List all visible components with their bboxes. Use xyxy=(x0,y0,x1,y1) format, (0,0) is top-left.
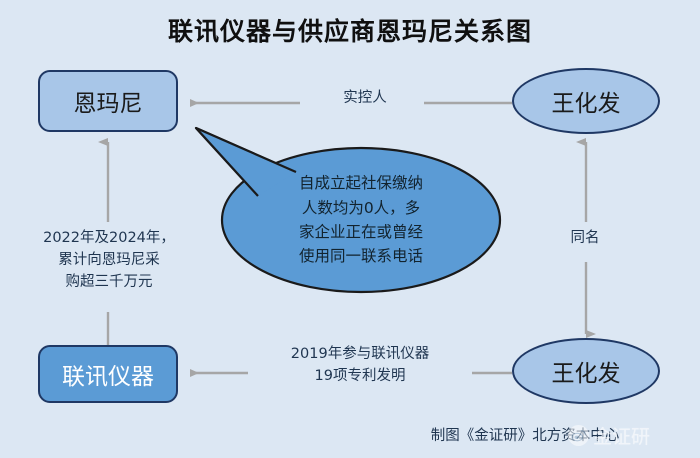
edge-label-shi-kong-ren: 实控人 xyxy=(310,88,420,110)
node-lianxun[interactable]: 联讯仪器 xyxy=(38,345,178,403)
edge-label-procurement: 2022年及2024年， 累计向恩玛尼采 购超三千万元 xyxy=(26,228,192,293)
edge-label-tong-ming: 同名 xyxy=(540,228,630,250)
page-title: 联讯仪器与供应商恩玛尼关系图 xyxy=(0,12,700,48)
callout-bubble: 自成立起社保缴纳 人数均为0人，多 家企业正在或曾经 使用同一联系电话 xyxy=(222,148,500,292)
callout-line-2: 人数均为0人，多 xyxy=(302,196,420,220)
callout-line-4: 使用同一联系电话 xyxy=(299,244,423,268)
callout-line-1: 自成立起社保缴纳 xyxy=(299,171,423,195)
edge-label-patents: 2019年参与联讯仪器 19项专利发明 xyxy=(250,344,470,388)
diagram-canvas: 联讯仪器与供应商恩玛尼关系图 xyxy=(0,0,700,458)
node-lianxun-label: 联讯仪器 xyxy=(62,357,154,391)
node-wang-hua-fa-top[interactable]: 王化发 xyxy=(512,68,660,134)
callout-bubble-text: 自成立起社保缴纳 人数均为0人，多 家企业正在或曾经 使用同一联系电话 xyxy=(222,148,500,292)
callout-line-3: 家企业正在或曾经 xyxy=(299,220,423,244)
node-enmani-label: 恩玛尼 xyxy=(74,84,143,118)
node-wang-hua-fa-bottom[interactable]: 王化发 xyxy=(512,338,660,404)
credit-text: 制图《金证研》北方资本中心 xyxy=(380,424,670,445)
node-wang-hua-fa-bottom-label: 王化发 xyxy=(552,354,621,388)
node-wang-hua-fa-top-label: 王化发 xyxy=(552,84,621,118)
node-enmani[interactable]: 恩玛尼 xyxy=(38,70,178,132)
